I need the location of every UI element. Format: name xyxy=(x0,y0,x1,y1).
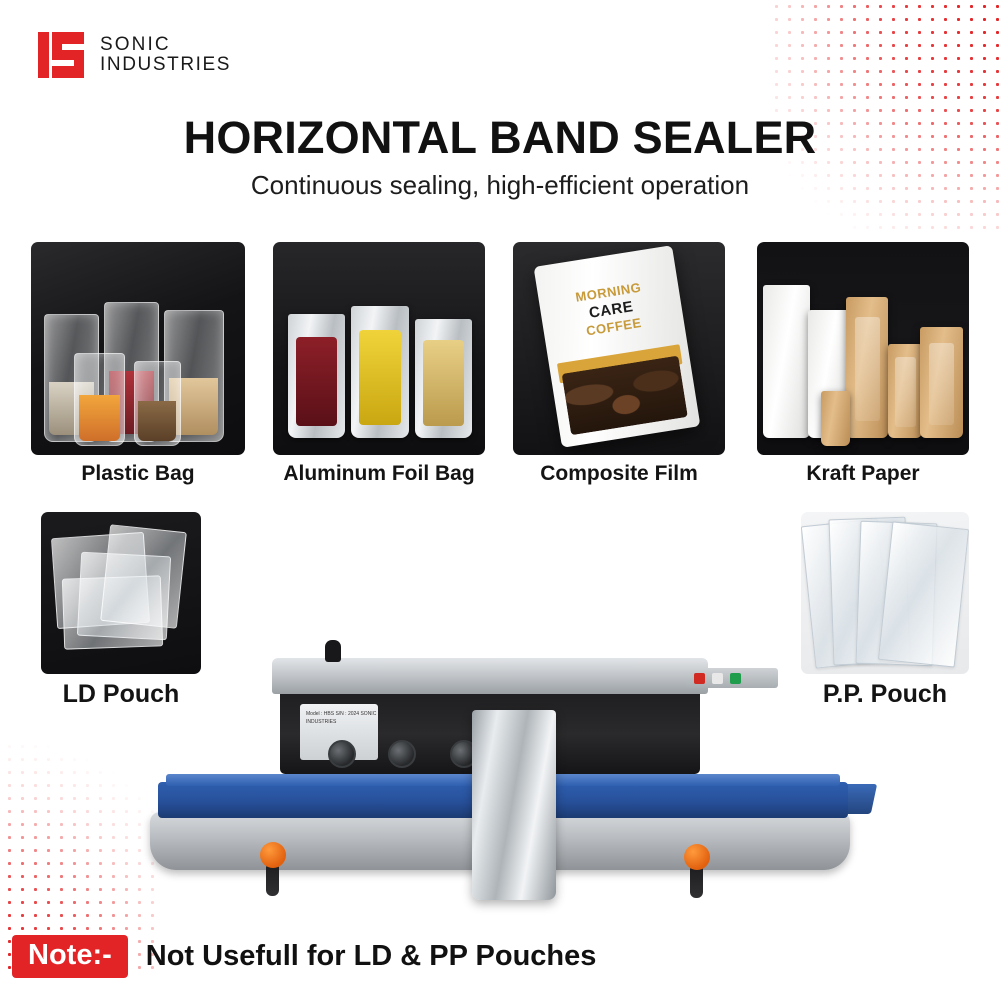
composite-film-photo: MORNING CARE COFFEE xyxy=(513,242,725,455)
note-bar: Note:- Not Usefull for LD & PP Pouches xyxy=(12,935,596,978)
poster-page: SONIC INDUSTRIES HORIZONTAL BAND SEALER … xyxy=(0,0,1000,1000)
brand-line-1: SONIC xyxy=(100,35,231,55)
brand-logo: SONIC INDUSTRIES xyxy=(38,30,231,80)
machine-height-knob-right[interactable] xyxy=(684,844,710,870)
material-card-plastic-bag: Plastic Bag xyxy=(31,242,245,486)
machine-button-white[interactable] xyxy=(712,673,723,684)
material-caption: Plastic Bag xyxy=(31,462,245,486)
machine-control-panel xyxy=(686,668,778,688)
coffee-pack-graphic: MORNING CARE COFFEE xyxy=(533,245,700,448)
plastic-bag-photo xyxy=(31,242,245,455)
kraft-paper-photo xyxy=(757,242,969,455)
machine-roller-2 xyxy=(388,740,416,768)
machine-button-green[interactable] xyxy=(730,673,741,684)
sonic-s-logo-icon xyxy=(38,30,86,80)
horizontal-band-sealer-machine: Model : HBS S/N : 2024 SONIC INDUSTRIES xyxy=(120,620,890,910)
material-caption: Kraft Paper xyxy=(757,462,969,486)
note-text: Not Usefull for LD & PP Pouches xyxy=(146,940,597,973)
material-caption: Composite Film xyxy=(513,462,725,486)
aluminum-foil-bag-photo xyxy=(273,242,485,455)
page-subtitle: Continuous sealing, high-efficient opera… xyxy=(0,170,1000,201)
machine-roller-1 xyxy=(328,740,356,768)
material-caption: Aluminum Foil Bag xyxy=(273,462,485,486)
page-title: HORIZONTAL BAND SEALER xyxy=(0,112,1000,164)
material-card-aluminum-foil-bag: Aluminum Foil Bag xyxy=(273,242,485,486)
machine-top-cover xyxy=(272,658,708,694)
material-card-kraft-paper: Kraft Paper xyxy=(757,242,969,486)
brand-wordmark: SONIC INDUSTRIES xyxy=(100,35,231,75)
brand-line-2: INDUSTRIES xyxy=(100,55,231,75)
machine-height-knob-left[interactable] xyxy=(260,842,286,868)
sealed-pouch-sample xyxy=(472,710,556,900)
note-label: Note:- xyxy=(12,935,128,978)
material-card-composite-film: MORNING CARE COFFEE Composite Film xyxy=(513,242,725,486)
machine-plate-text: Model : HBS S/N : 2024 SONIC INDUSTRIES xyxy=(306,711,378,726)
machine-top-knob xyxy=(325,640,341,662)
machine-button-red[interactable] xyxy=(694,673,705,684)
